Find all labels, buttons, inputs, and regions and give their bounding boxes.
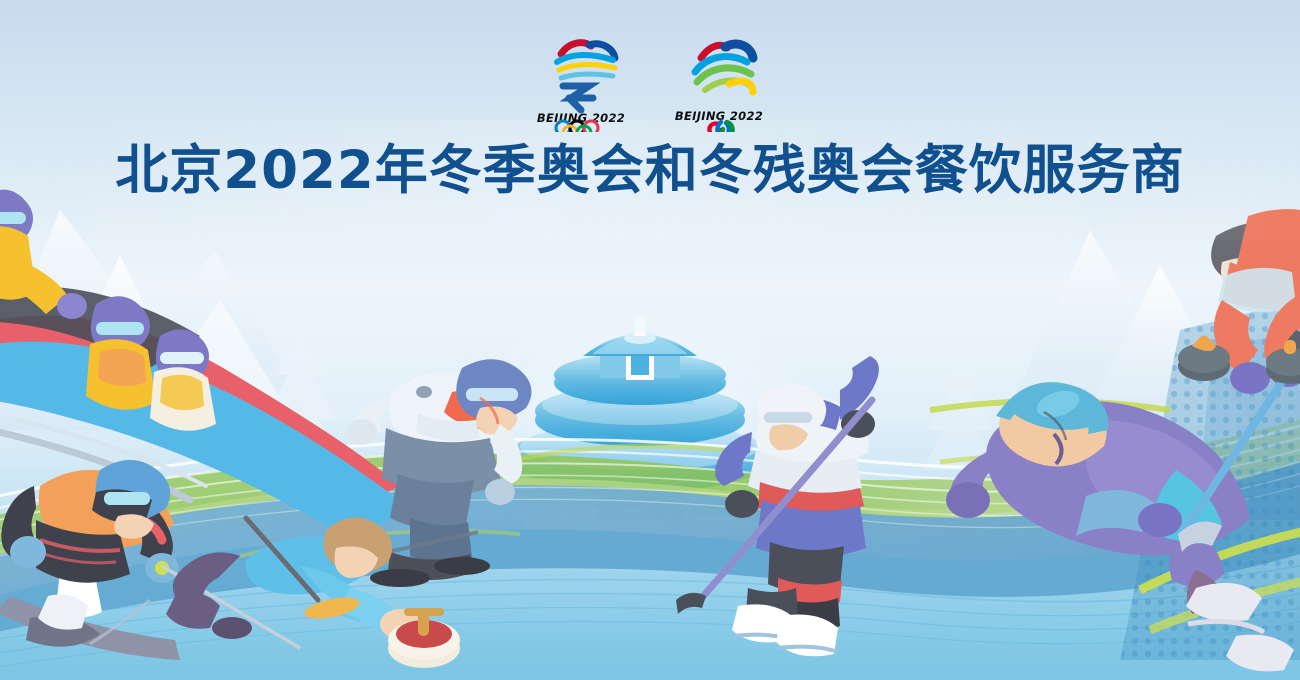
banner-title: 北京2022年冬季奥会和冬残奥会餐饮服务商 [115, 142, 1185, 199]
paralympic-winter-mark [695, 44, 753, 92]
bobsled-rider-2 [86, 296, 156, 409]
paralympic-wordmark: BEIJING 2022 [675, 109, 763, 123]
olympic-banner: BEIJING 2022 [0, 0, 1300, 680]
paralympic-emblem: BEIJING 2022 [671, 28, 767, 132]
agitos-icon [709, 122, 732, 132]
banner-title-wrap: 北京2022年冬季奥会和冬残奥会餐饮服务商 [0, 142, 1300, 199]
olympic-emblem: BEIJING 2022 [533, 28, 629, 132]
olympic-winter-mark [557, 43, 615, 110]
emblem-row: BEIJING 2022 [0, 28, 1300, 132]
